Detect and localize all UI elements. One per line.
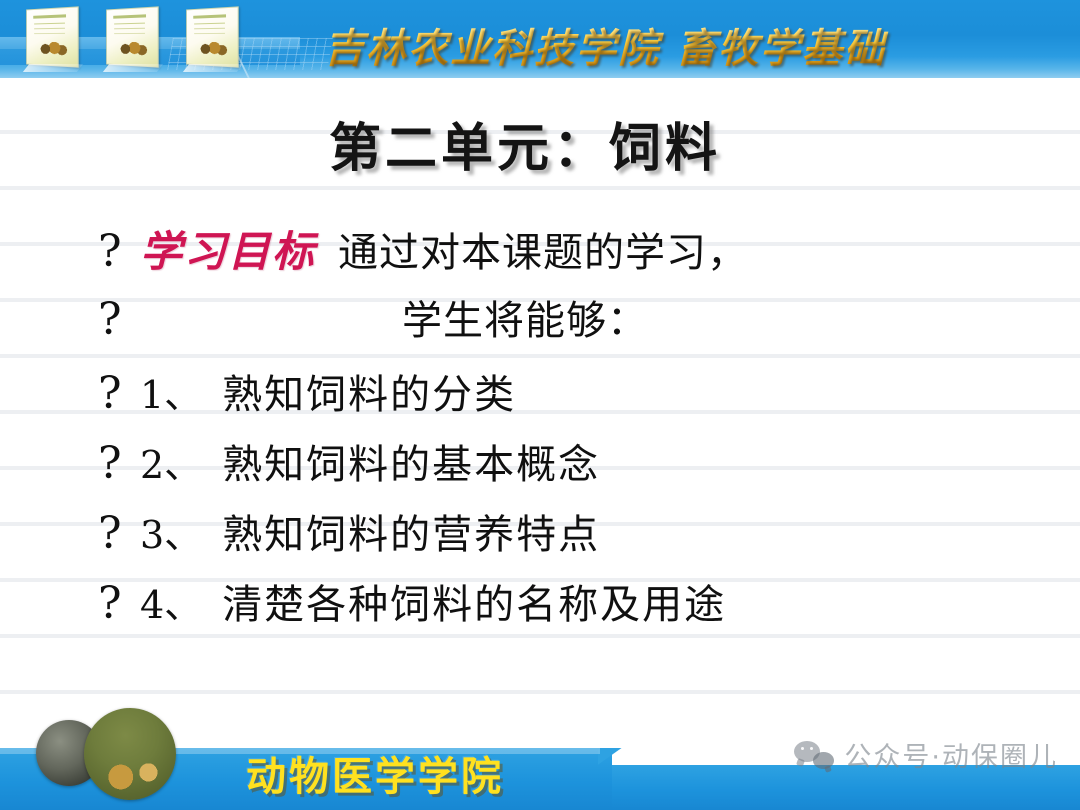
content-body: ? 学习目标 通过对本课题的学习， ? 学生将能够： ? 1、 熟知饲料的分类 … [98, 218, 998, 642]
wechat-watermark: 公众号·动保圈儿 [794, 735, 1058, 774]
list-item: ? 2、 熟知饲料的基本概念 [98, 432, 998, 502]
bullet-glyph-icon: ? [98, 442, 140, 486]
wechat-icon [794, 741, 834, 769]
list-item-label: 熟知饲料的营养特点 [222, 502, 600, 560]
list-item-number: 4、 [140, 574, 202, 629]
footer-step-notch [598, 748, 622, 765]
objective-intro-text: 通过对本课题的学习， [338, 220, 748, 278]
bullet-glyph-icon: ? [98, 582, 140, 626]
list-item: ? 3、 熟知饲料的营养特点 [98, 502, 998, 572]
bullet-glyph-icon: ? [98, 230, 140, 274]
bullet-glyph-icon: ? [98, 372, 140, 416]
wechat-watermark-text: 公众号·动保圈儿 [844, 735, 1058, 774]
objective-heading-line: ? 学习目标 通过对本课题的学习， [98, 218, 998, 288]
list-item-number: 2、 [140, 434, 202, 489]
header-org-title: 吉林农业科技学院 畜牧学基础 [0, 16, 1080, 74]
objective-subline: ? 学生将能够： [98, 288, 998, 362]
objective-subline-text: 学生将能够： [140, 288, 648, 346]
footer-department-label: 动物医学学院 [246, 744, 504, 802]
list-item-number: 1、 [140, 364, 202, 419]
list-item: ? 4、 清楚各种饲料的名称及用途 [98, 572, 998, 642]
objective-label: 学习目标 [140, 218, 316, 279]
list-item-label: 清楚各种饲料的名称及用途 [222, 572, 726, 630]
bullet-glyph-icon: ? [98, 512, 140, 556]
list-item: ? 1、 熟知饲料的分类 [98, 362, 998, 432]
header-banner: 吉林农业科技学院 畜牧学基础 [0, 0, 1080, 78]
list-item-label: 熟知饲料的基本概念 [222, 432, 600, 490]
slide-canvas: 吉林农业科技学院 畜牧学基础 第二单元：饲料 ? 学习目标 通过对本课题的学习，… [0, 0, 1080, 810]
bullet-glyph-icon: ? [98, 298, 140, 342]
list-item-label: 熟知饲料的分类 [222, 362, 516, 420]
footer-bar: 动物医学学院 公众号·动保圈儿 [0, 718, 1080, 810]
page-title: 第二单元：饲料 [0, 106, 1080, 181]
list-item-number: 3、 [140, 504, 202, 559]
footer-photo-thumbnail [84, 708, 176, 800]
